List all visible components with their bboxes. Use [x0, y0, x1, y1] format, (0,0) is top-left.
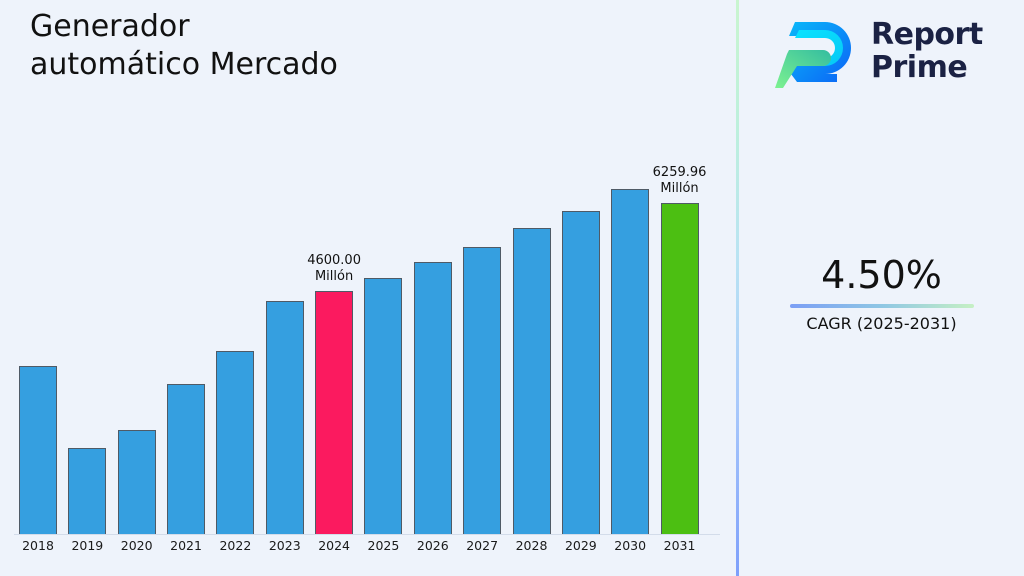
- bar-2022: [216, 351, 254, 534]
- x-tick-2028: 2028: [507, 538, 557, 553]
- x-tick-2029: 2029: [556, 538, 606, 553]
- x-axis-line: [14, 534, 720, 535]
- cagr-block: 4.50% CAGR (2025-2031): [739, 252, 1024, 334]
- bar-2019: [68, 448, 106, 534]
- x-tick-2021: 2021: [161, 538, 211, 553]
- bar-chart: 2018201920202021202220232024202520262027…: [0, 0, 736, 576]
- x-tick-2020: 2020: [112, 538, 162, 553]
- bar-2021: [167, 384, 205, 534]
- bar-2028: [513, 228, 551, 534]
- bar-2029: [562, 211, 600, 534]
- value-label-2031: 6259.96 Millón: [635, 165, 725, 197]
- x-tick-2031: 2031: [655, 538, 705, 553]
- bar-2027: [463, 247, 501, 534]
- x-tick-2023: 2023: [260, 538, 310, 553]
- cagr-divider: [790, 304, 974, 308]
- x-tick-2025: 2025: [358, 538, 408, 553]
- x-tick-2018: 2018: [13, 538, 63, 553]
- bar-2024: [315, 291, 353, 534]
- bar-2020: [118, 430, 156, 534]
- x-tick-2022: 2022: [210, 538, 260, 553]
- brand-name: Report Prime: [871, 18, 983, 84]
- value-label-2024: 4600.00 Millón: [289, 253, 379, 285]
- x-tick-2024: 2024: [309, 538, 359, 553]
- x-tick-2027: 2027: [457, 538, 507, 553]
- right-panel: Report Prime 4.50% CAGR (2025-2031): [739, 0, 1024, 576]
- cagr-label: CAGR (2025-2031): [739, 314, 1024, 334]
- x-tick-2019: 2019: [62, 538, 112, 553]
- bar-2030: [611, 189, 649, 534]
- bar-2018: [19, 366, 57, 534]
- brand-logo: Report Prime: [775, 12, 1007, 90]
- bar-2026: [414, 262, 452, 534]
- x-tick-2026: 2026: [408, 538, 458, 553]
- bar-2023: [266, 301, 304, 534]
- bar-2025: [364, 278, 402, 534]
- screenshot-root: Generador automático Mercado 20182019202…: [0, 0, 1024, 576]
- report-prime-logo-icon: [775, 16, 861, 88]
- bar-2031: [661, 203, 699, 534]
- cagr-value: 4.50%: [739, 252, 1024, 298]
- x-tick-2030: 2030: [605, 538, 655, 553]
